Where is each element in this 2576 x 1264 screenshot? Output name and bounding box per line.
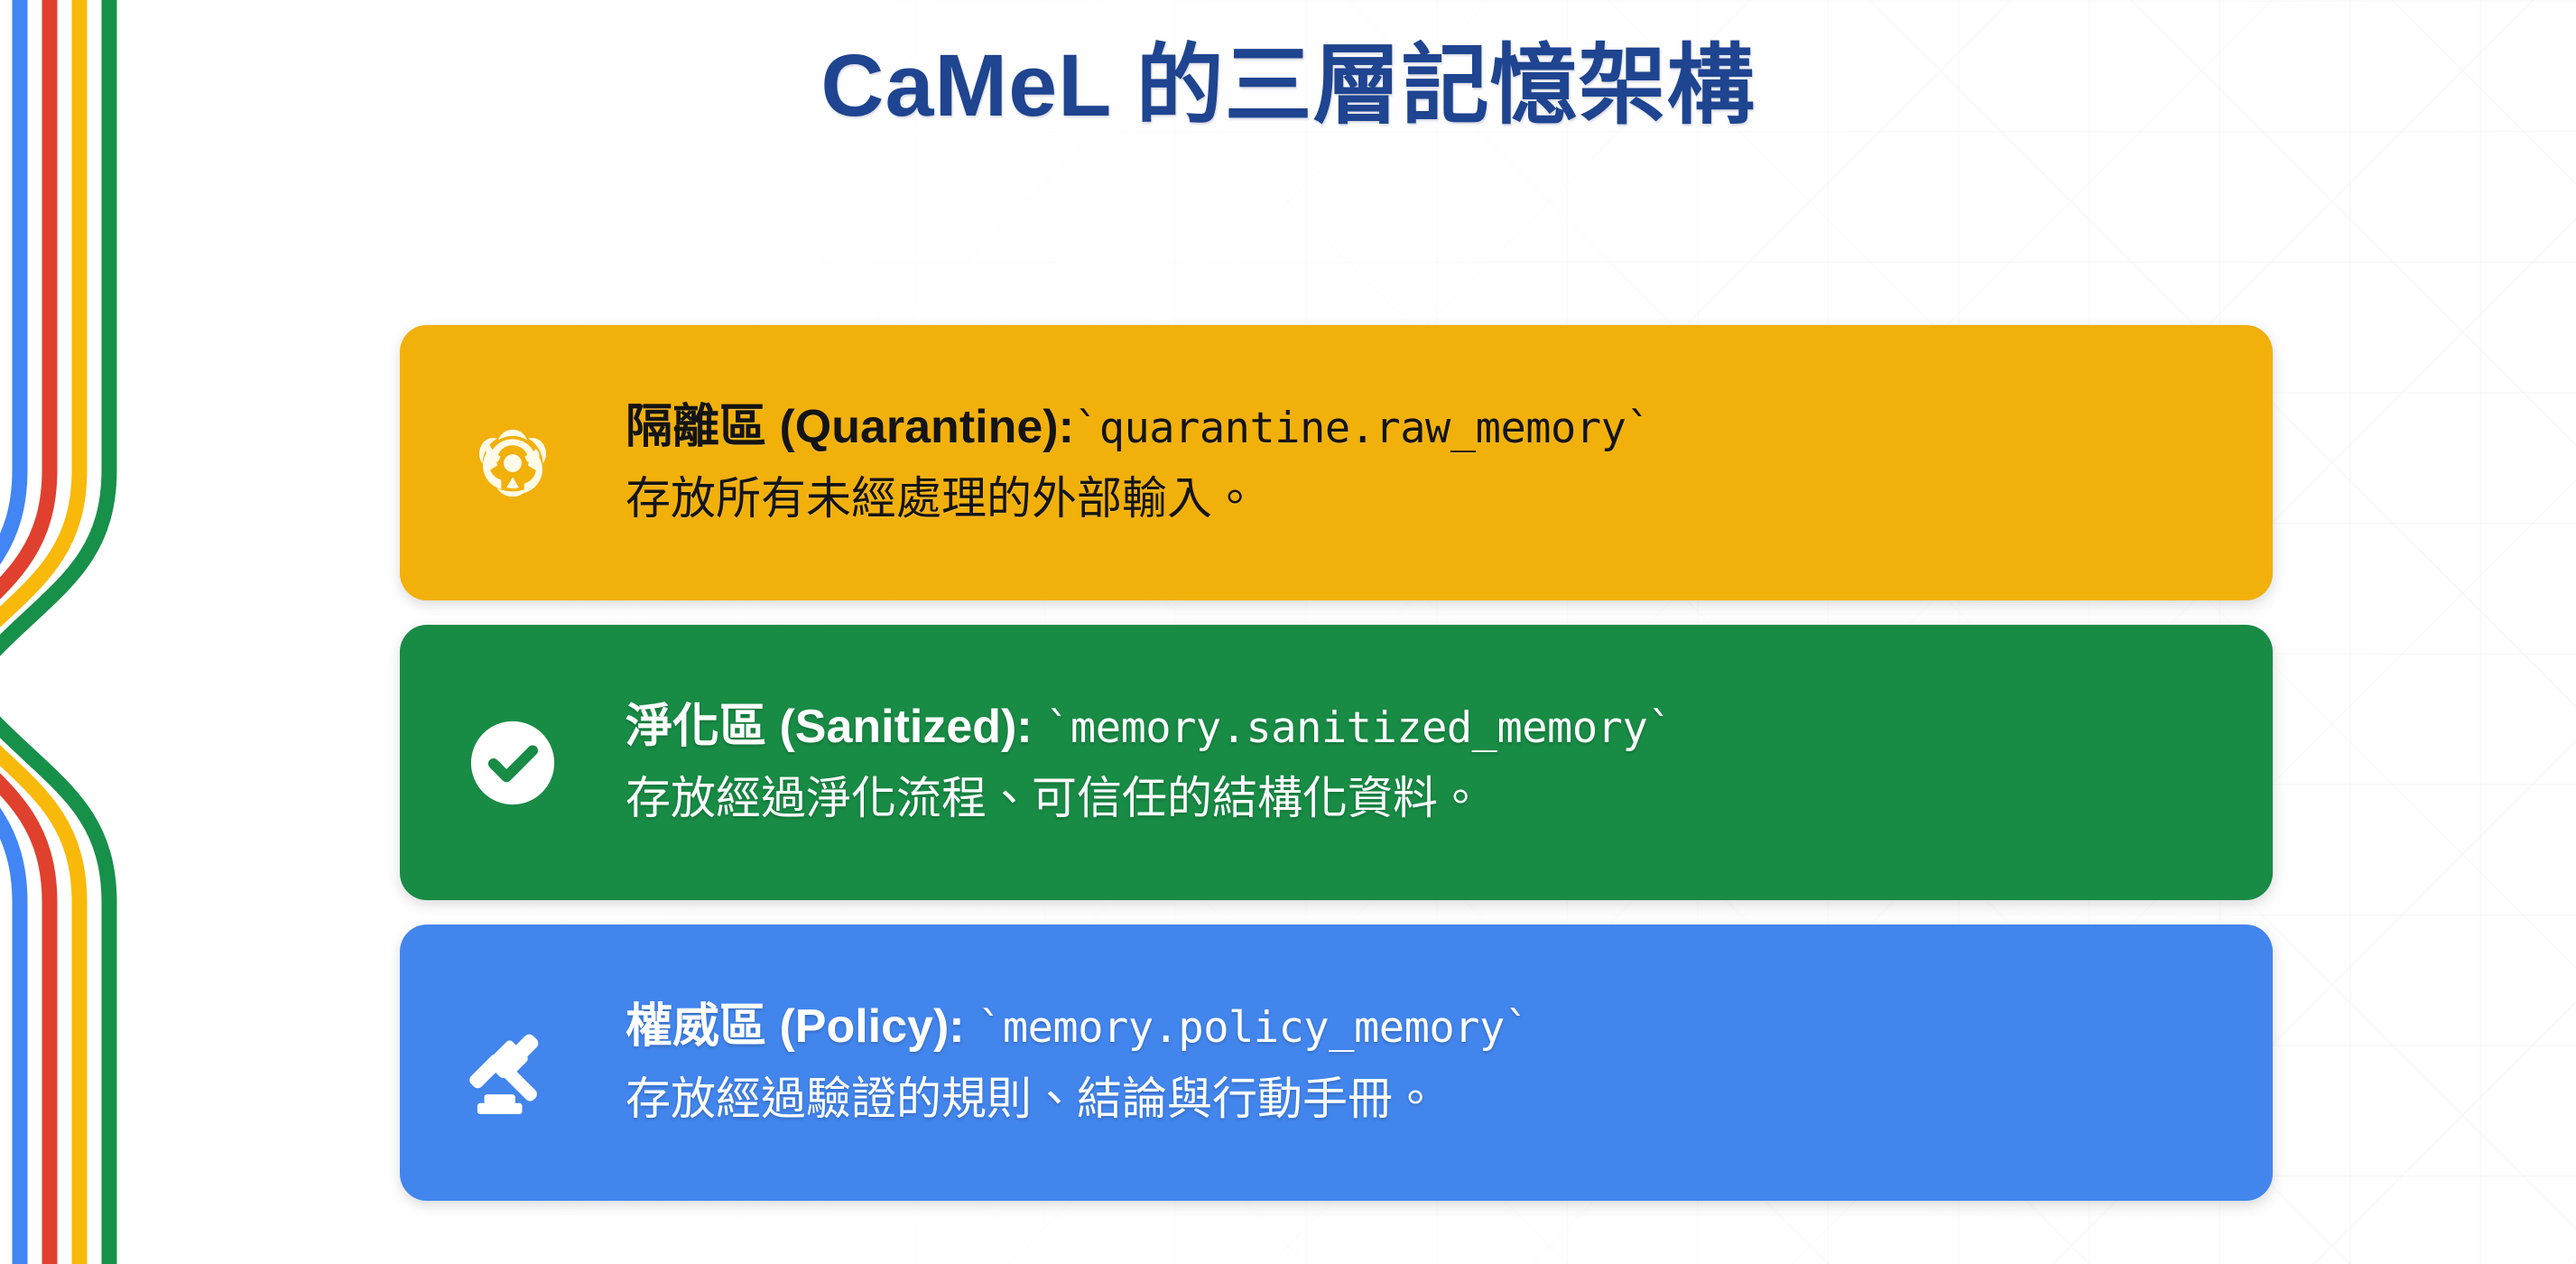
page-title: CaMeL 的三層記憶架構 [0, 34, 2576, 137]
card-heading-label: 隔離區 (Quarantine): [625, 401, 1074, 453]
slide-canvas: CaMeL 的三層記憶架構 [0, 0, 2576, 1264]
card-quarantine[interactable]: 隔離區 (Quarantine):`quarantine.raw_memory`… [400, 325, 2273, 600]
card-description: 存放所有未經處理的外部輸入。 [625, 471, 2219, 526]
gavel-icon [400, 1008, 625, 1118]
card-policy[interactable]: 權威區 (Policy): `memory.policy_memory` 存放經… [400, 925, 2273, 1201]
memory-layer-card-list: 隔離區 (Quarantine):`quarantine.raw_memory`… [400, 325, 2273, 1201]
card-heading-code: `memory.sanitized_memory` [1045, 703, 1673, 753]
card-heading-code: `memory.policy_memory` [978, 1003, 1530, 1053]
card-heading: 權威區 (Policy): `memory.policy_memory` [625, 999, 2219, 1055]
card-heading: 淨化區 (Sanitized): `memory.sanitized_memor… [625, 699, 2219, 755]
check-circle-icon [400, 710, 625, 816]
ribbon-stripe-red [0, 0, 50, 1264]
card-sanitized[interactable]: 淨化區 (Sanitized): `memory.sanitized_memor… [400, 625, 2273, 900]
card-heading: 隔離區 (Quarantine):`quarantine.raw_memory` [625, 399, 2219, 455]
card-body: 權威區 (Policy): `memory.policy_memory` 存放經… [625, 999, 2273, 1126]
card-heading-label: 權威區 (Policy): [625, 1000, 965, 1053]
biohazard-icon [400, 409, 625, 517]
card-description: 存放經過淨化流程、可信任的結構化資料。 [625, 771, 2219, 826]
ribbon-stripe-yellow [0, 0, 79, 1264]
card-description: 存放經過驗證的規則、結論與行動手冊。 [625, 1072, 2219, 1127]
card-heading-label: 淨化區 (Sanitized): [625, 701, 1033, 753]
ribbon-stripe-green [0, 0, 109, 1264]
card-body: 隔離區 (Quarantine):`quarantine.raw_memory`… [625, 399, 2273, 526]
ribbon-stripe-blue [0, 0, 20, 1264]
card-heading-code: `quarantine.raw_memory` [1074, 404, 1651, 453]
card-body: 淨化區 (Sanitized): `memory.sanitized_memor… [625, 699, 2273, 826]
google-brand-ribbon [0, 0, 208, 1264]
